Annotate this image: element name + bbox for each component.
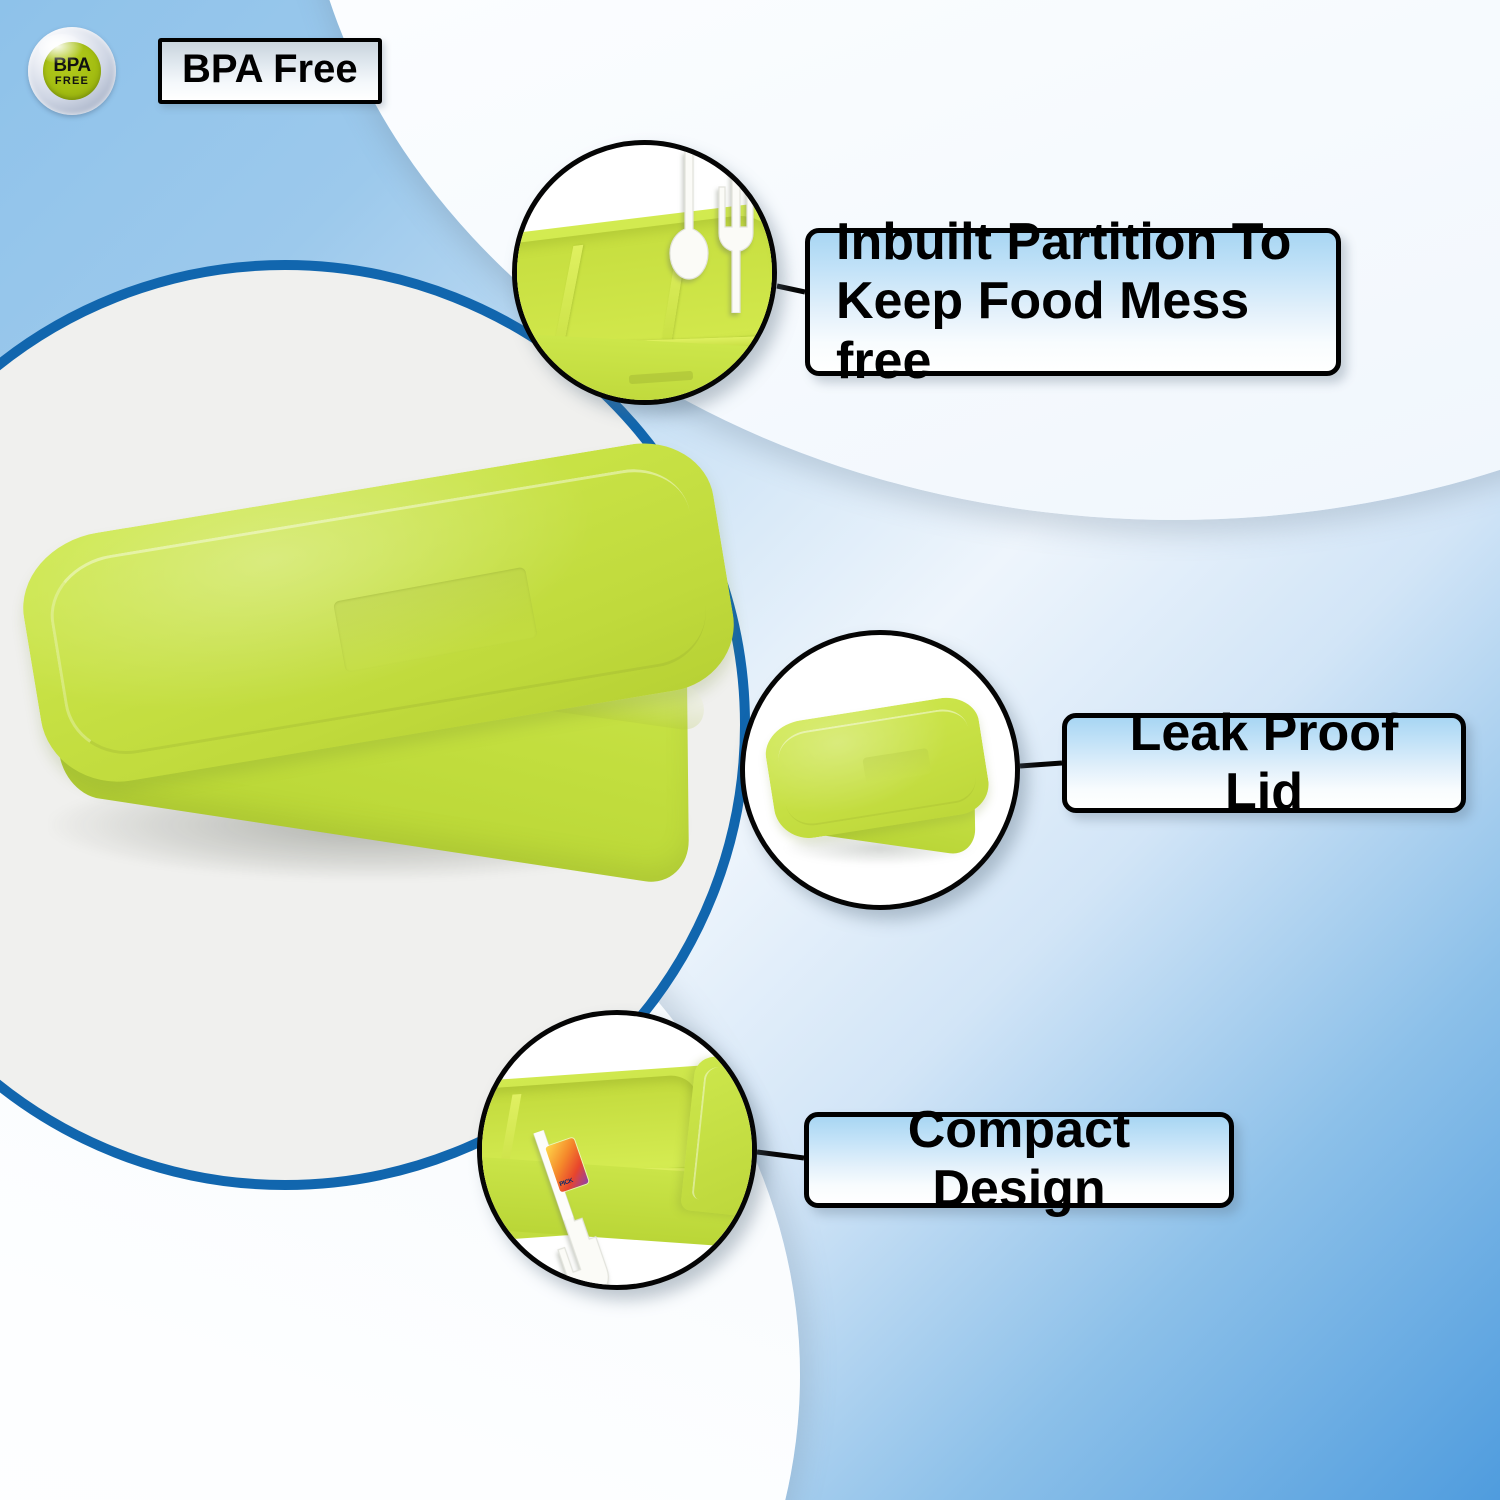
callout-image-compact: PICK: [482, 1015, 752, 1285]
bpa-free-seal-icon: BPA FREE: [28, 27, 116, 115]
feature-label-text: Inbuilt Partition To Keep Food Mess free: [836, 213, 1310, 391]
feature-label-compact-design: Compact Design: [804, 1112, 1234, 1208]
callout-image-lid: [745, 635, 1015, 905]
feature-label-leak-proof-lid: Leak Proof Lid: [1062, 713, 1466, 813]
spoon-icon: [667, 151, 711, 301]
bpa-seal-line2: FREE: [55, 76, 89, 87]
callout-image-partition: [517, 145, 772, 400]
bpa-seal-line1: BPA: [53, 56, 90, 75]
callout-circle-partition: [512, 140, 777, 405]
callout-circle-compact: PICK: [477, 1010, 757, 1290]
feature-label-text: Compact Design: [835, 1101, 1203, 1220]
fork-sticker-text: PICK: [559, 1178, 574, 1188]
callout-circle-lid: [740, 630, 1020, 910]
fork-icon: [713, 163, 759, 313]
bpa-free-badge-group: BPA FREE BPA Free: [28, 27, 382, 115]
bpa-free-label-chip: BPA Free: [158, 38, 382, 104]
hero-product-image: [10, 470, 750, 890]
bpa-seal-core: BPA FREE: [43, 42, 101, 100]
feature-label-inbuilt-partition: Inbuilt Partition To Keep Food Mess free: [805, 228, 1341, 376]
bpa-chip-text: BPA Free: [182, 47, 358, 92]
feature-label-text: Leak Proof Lid: [1093, 704, 1435, 823]
